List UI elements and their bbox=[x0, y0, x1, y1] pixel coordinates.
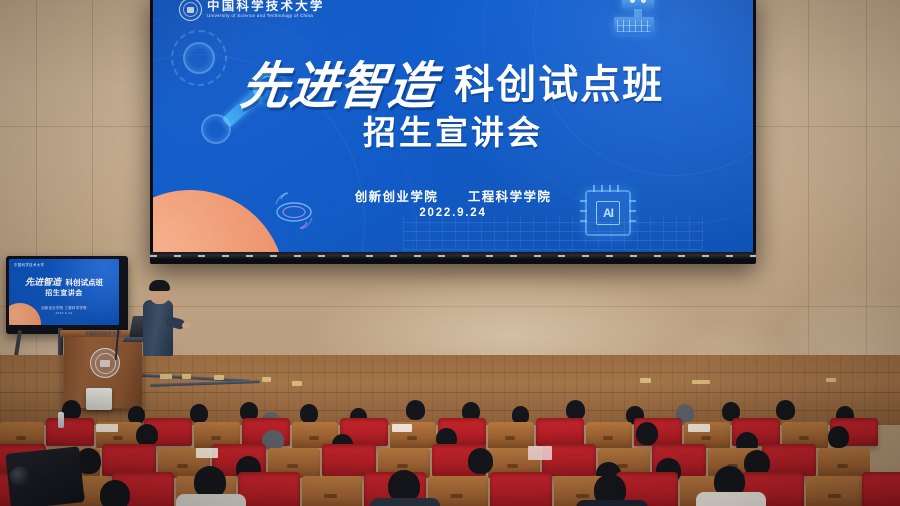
audience-head bbox=[406, 400, 425, 420]
organizer-1: 创新创业学院 bbox=[355, 190, 438, 204]
audience-shoulders bbox=[696, 492, 766, 506]
auditorium-photo: 中国科学技术大学 University of Science and Techn… bbox=[0, 0, 900, 506]
audience-head bbox=[566, 400, 585, 420]
robot-icon bbox=[608, 0, 666, 38]
chip-pin bbox=[580, 220, 587, 222]
robot-head bbox=[622, 0, 654, 9]
camera-lens-icon bbox=[9, 466, 31, 488]
monitor-date: 2022.9.24 bbox=[9, 311, 119, 315]
monitor-university-name: 中国科学技术大学 bbox=[14, 262, 44, 267]
monitor-title-badge: 科创试点班 bbox=[66, 278, 104, 287]
screen-bottom-bezel bbox=[150, 252, 756, 259]
floor-tape-mark bbox=[262, 377, 271, 382]
audience-shoulders bbox=[370, 498, 440, 506]
audience-row bbox=[0, 466, 900, 506]
monitor-subtitle: 招生宣讲会 bbox=[9, 288, 119, 298]
robot-body-grid bbox=[617, 20, 651, 32]
speaker-hair bbox=[149, 280, 170, 291]
robot-body bbox=[614, 17, 654, 35]
university-name-en: University of Science and Technology of … bbox=[207, 13, 325, 19]
confidence-monitor: 中国科学技术大学 先进智造 科创试点班 招生宣讲会 创新创业学院 工程科学学院 … bbox=[6, 256, 128, 334]
floor-tape-mark bbox=[292, 381, 302, 386]
slide-surface: 中国科学技术大学 University of Science and Techn… bbox=[153, 0, 753, 252]
monitor-title-main: 先进智造 科创试点班 bbox=[9, 275, 119, 288]
confidence-monitor-screen: 中国科学技术大学 先进智造 科创试点班 招生宣讲会 创新创业学院 工程科学学院 … bbox=[9, 259, 119, 325]
floor-tape-mark bbox=[826, 378, 836, 382]
organizer-2: 工程科学学院 bbox=[468, 190, 551, 204]
audience-head bbox=[136, 424, 158, 446]
slide-organizers: 创新创业学院 工程科学学院 bbox=[153, 186, 753, 205]
university-name-cn: 中国科学技术大学 bbox=[207, 0, 325, 13]
floor-tape-mark bbox=[692, 380, 710, 384]
university-seal-icon bbox=[179, 0, 202, 21]
chip-pin bbox=[629, 220, 636, 222]
slide-subtitle: 招生宣讲会 bbox=[363, 114, 543, 151]
floor-tape-mark bbox=[214, 375, 224, 380]
slide-date: 2022.9.24 bbox=[153, 207, 753, 219]
audience-head bbox=[636, 422, 658, 445]
slide-title-badge: 科创试点班 bbox=[454, 52, 664, 110]
floor-tape-mark bbox=[160, 374, 172, 379]
audience-head bbox=[62, 400, 81, 420]
robot-eye bbox=[630, 0, 635, 3]
audience-head bbox=[776, 400, 795, 420]
audience-shoulders bbox=[176, 494, 246, 506]
speaker-hand bbox=[182, 322, 190, 329]
audience-shoulders bbox=[576, 500, 648, 506]
robot-eye bbox=[641, 0, 646, 3]
robot-neck bbox=[634, 9, 642, 17]
monitor-title-text: 先进智造 bbox=[25, 277, 61, 287]
circuit-pattern-icon bbox=[403, 216, 703, 250]
monitor-organizers: 创新创业学院 工程科学学院 bbox=[9, 305, 119, 310]
led-presentation-screen: 中国科学技术大学 University of Science and Techn… bbox=[150, 0, 756, 264]
speaker-torso bbox=[143, 300, 173, 356]
audience-head bbox=[100, 480, 130, 506]
camera-rig bbox=[5, 446, 84, 506]
wall-seam bbox=[0, 306, 900, 307]
university-logo: 中国科学技术大学 University of Science and Techn… bbox=[179, 0, 325, 21]
floor-tape-mark bbox=[182, 374, 191, 379]
slide-subtitle-row: 招生宣讲会 bbox=[153, 106, 753, 154]
floor-tape-mark bbox=[640, 378, 651, 383]
